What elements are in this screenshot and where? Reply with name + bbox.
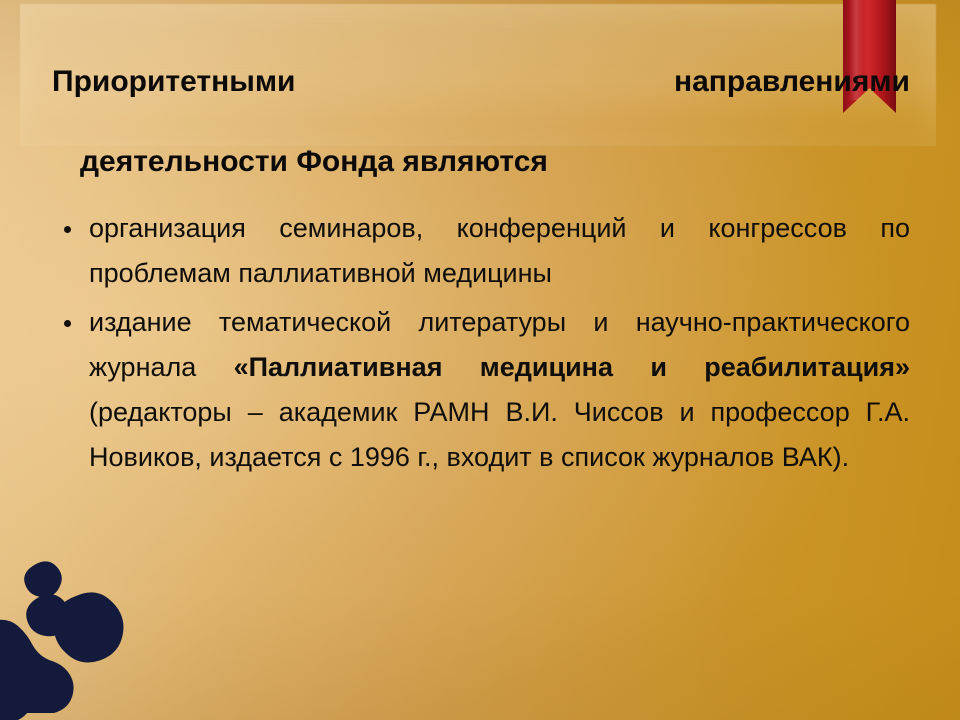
slide-title: Приоритетными направлениями деятельности… [52,62,910,182]
ink-blot-decoration [0,550,220,720]
bullet-text-emphasis: «Паллиативная медицина и реабилитация» [234,352,910,382]
presentation-slide: Приоритетными направлениями деятельности… [0,0,960,720]
bullet-text: организация семинаров, конференций и кон… [89,213,910,288]
slide-title-line-2: деятельности Фонда являются [52,142,910,182]
slide-body: организация семинаров, конференций и кон… [63,206,910,484]
bullet-item: издание тематической литературы и научно… [63,300,910,480]
slide-title-line-1: Приоритетными направлениями [52,62,910,142]
bullet-list: организация семинаров, конференций и кон… [63,206,910,480]
bullet-item: организация семинаров, конференций и кон… [63,206,910,296]
bullet-text: (редакторы – академик РАМН В.И. Чиссов и… [89,397,910,472]
